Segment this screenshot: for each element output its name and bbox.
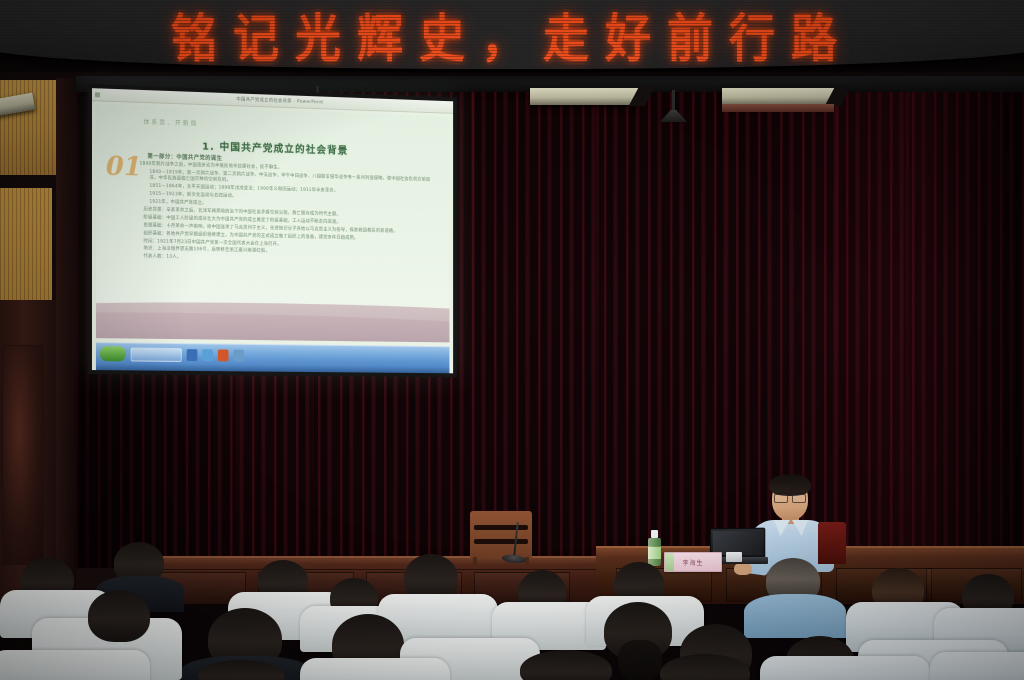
taskbar-icon-explorer[interactable] (187, 349, 198, 361)
taskbar-item-1[interactable] (131, 347, 182, 361)
slide-subhead: 第一部分：中国共产党的诞生 (147, 152, 222, 162)
audience-chair (760, 656, 930, 680)
led-banner-text: 铭记光辉史，走好前行路 (0, 0, 1024, 72)
window-icon (95, 92, 100, 97)
audience-head (520, 650, 612, 680)
slide-wave-front (96, 292, 449, 342)
audience-chair (930, 652, 1024, 680)
audience-area (0, 540, 1024, 680)
audience-chair (300, 658, 450, 680)
taskbar-icon-browser[interactable] (202, 349, 213, 361)
glasses-icon (774, 493, 806, 500)
ponytail (618, 640, 662, 680)
start-button-icon[interactable] (100, 346, 126, 361)
taskbar-icon-powerpoint[interactable] (218, 349, 229, 361)
wall-frame-edge (56, 78, 76, 603)
ceiling-light-right (722, 88, 834, 105)
slide-canvas: 体系思、开新局 1. 中国共产党成立的社会背景 01 第一部分：中国共产党的诞生… (96, 104, 449, 342)
ceiling-light-left (530, 88, 638, 105)
led-banner: 铭记光辉史，走好前行路 (0, 0, 1024, 72)
hanging-speaker (672, 90, 675, 112)
carved-wood-panel (2, 345, 44, 565)
wall-wood-panel-lower (0, 188, 52, 306)
audience-chair (0, 650, 150, 680)
audience-head (88, 590, 150, 642)
slide-kicker: 体系思、开新局 (143, 117, 198, 128)
taskbar-icon-media[interactable] (233, 349, 244, 361)
lecture-hall-photo: 中国共产党成立的社会背景 - PowerPoint 体系思、开新局 1. 中国共… (0, 0, 1024, 680)
projection-screen: 中国共产党成立的社会背景 - PowerPoint 体系思、开新局 1. 中国共… (88, 84, 457, 377)
slide-body-text: 1840年鸦片战争之后，中国逐步沦为半殖民地半封建社会，民不聊生。1840—19… (140, 162, 433, 269)
slide-number-marker: 01 (106, 152, 142, 183)
audience-shoulders-blue (744, 594, 846, 638)
